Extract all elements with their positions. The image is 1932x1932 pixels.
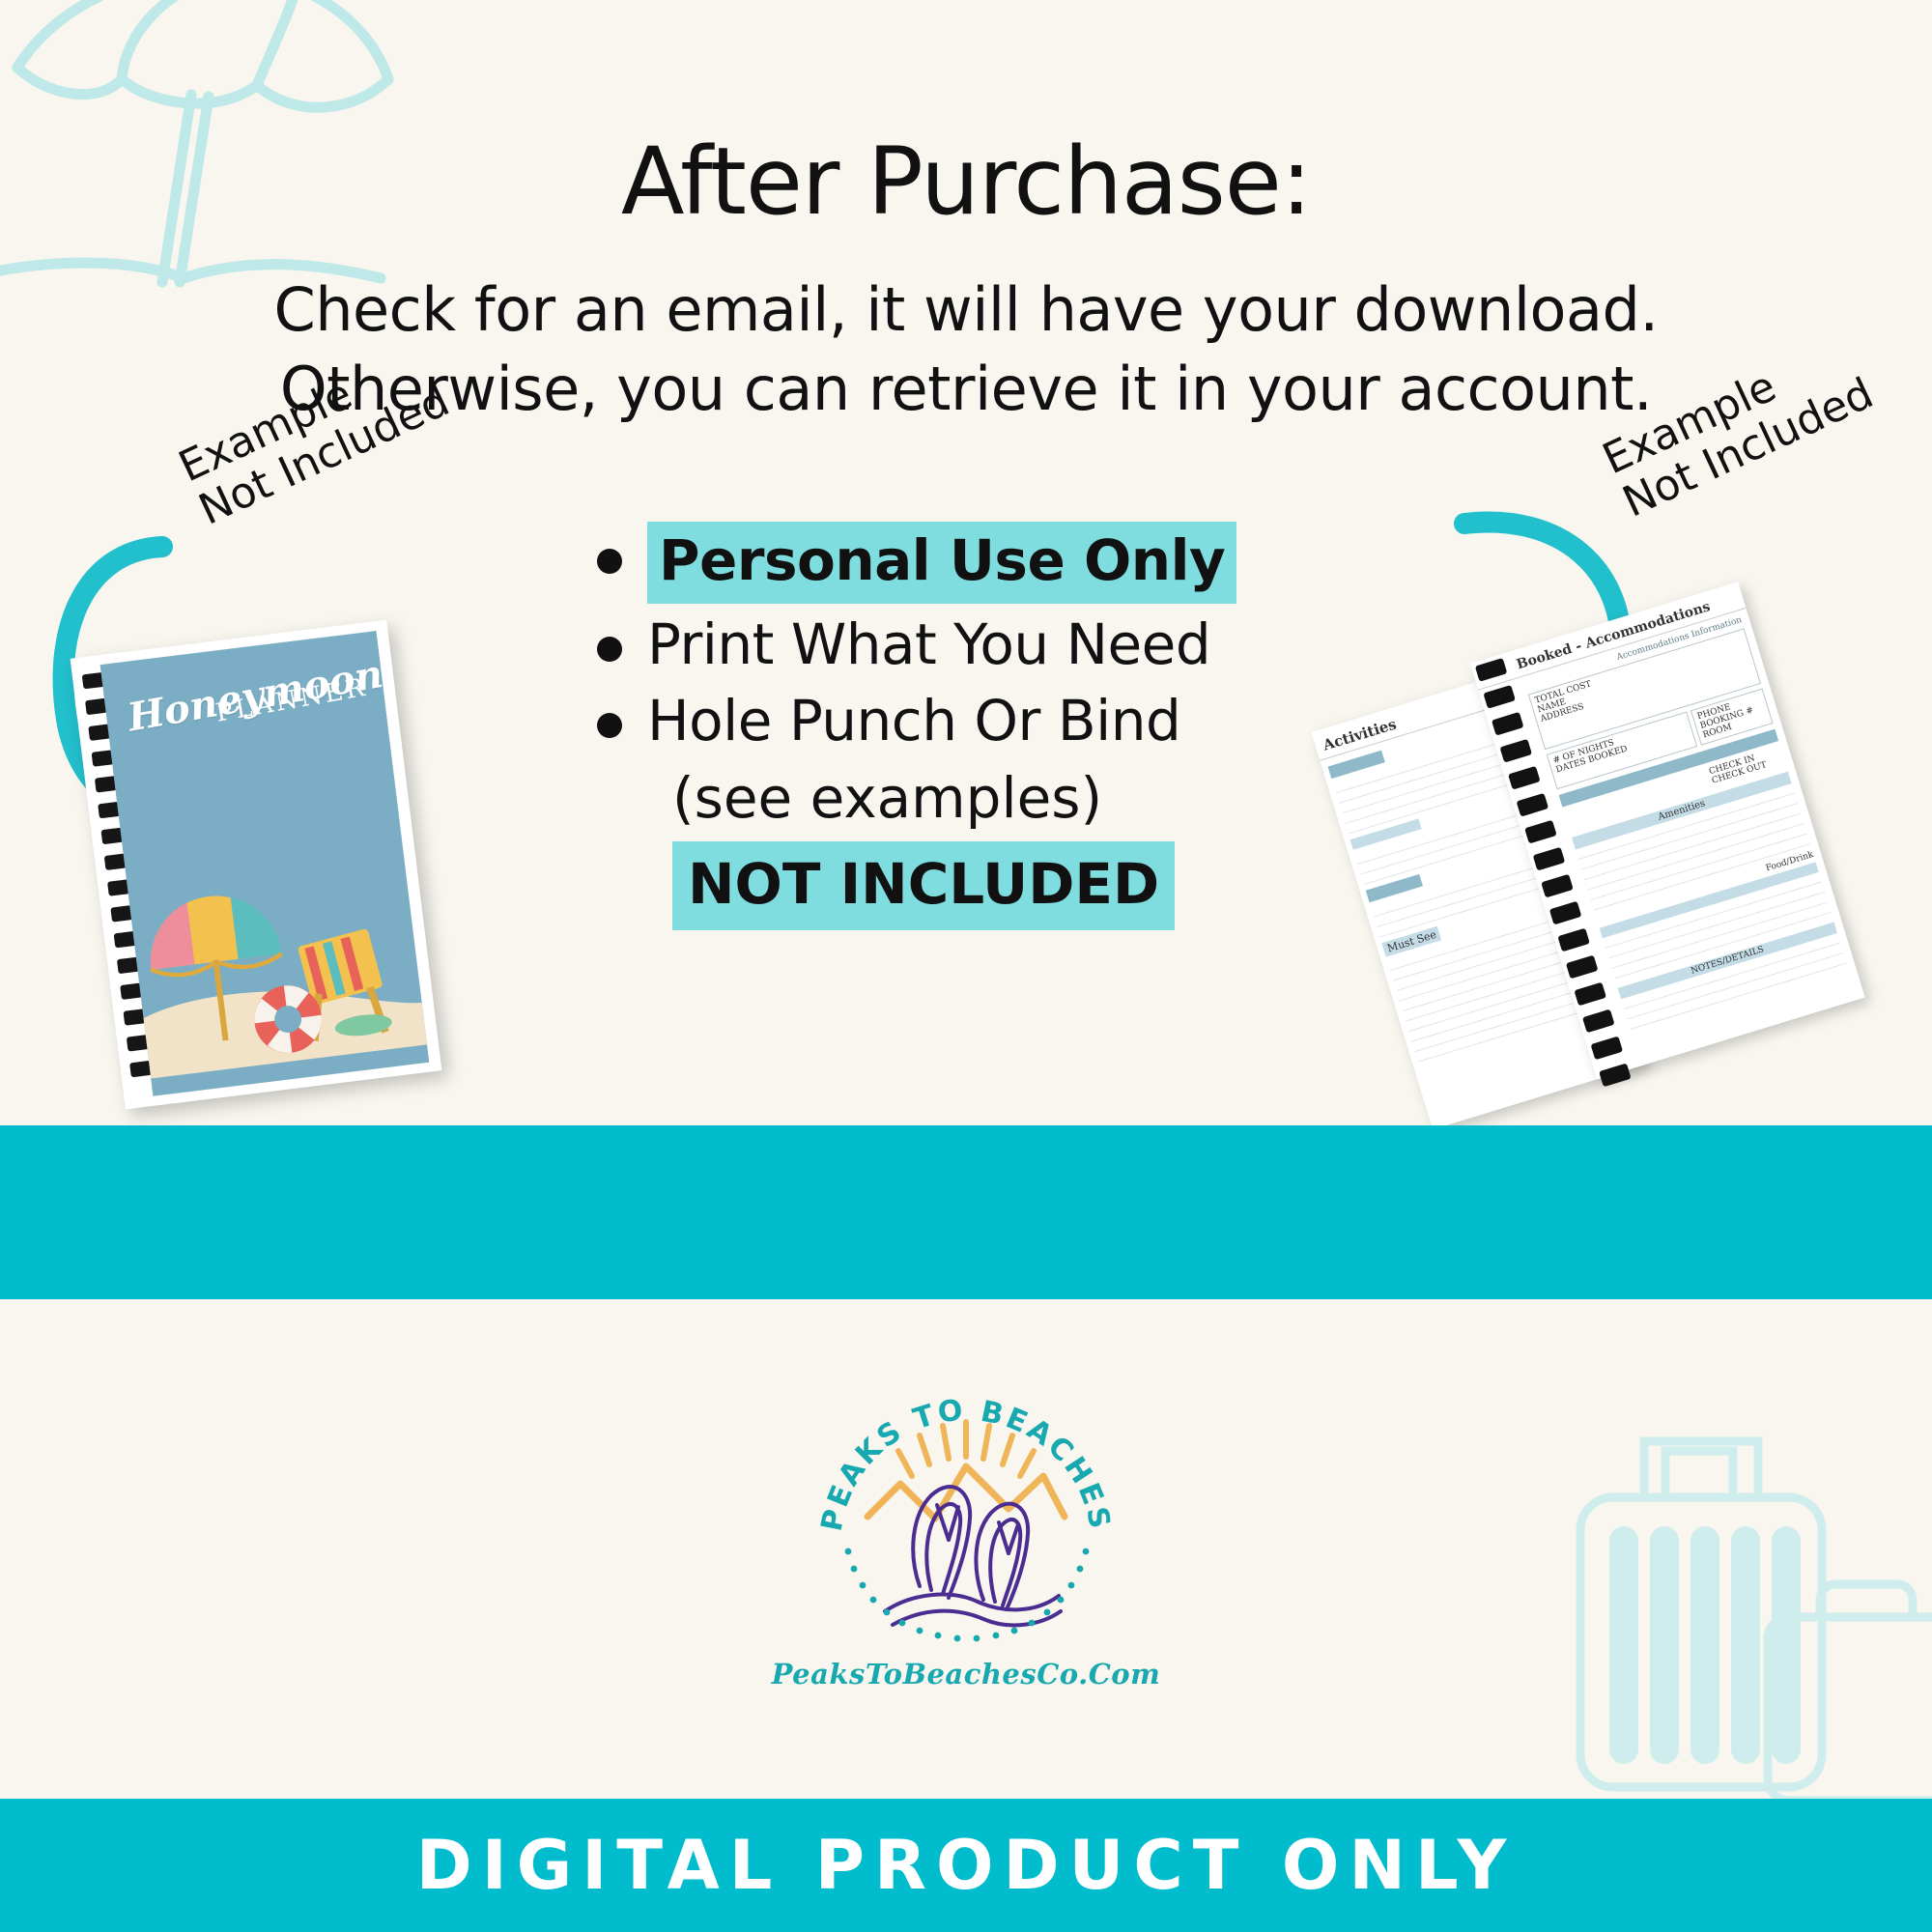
bullet-label-print-what-you-need: Print What You Need	[647, 610, 1210, 680]
bullet-dot-icon	[597, 637, 622, 662]
book-cover: Honeymoon PLANNER	[100, 631, 430, 1096]
digital-product-banner-text: DIGITAL PRODUCT ONLY	[416, 1826, 1517, 1905]
not-included-badge: NOT INCLUDED	[672, 841, 1175, 930]
left-example-group: Example Not Included Ho	[58, 522, 560, 1121]
teal-divider-band	[0, 1125, 1932, 1299]
brand-logo-block: PEAKS TO BEACHES	[763, 1362, 1169, 1690]
bullet-label-hole-punch-or-bind: Hole Punch Or Bind	[647, 686, 1180, 756]
bullet-text-wrapper: Personal Use Only	[647, 522, 1236, 604]
list-item: Personal Use Only	[597, 522, 1273, 604]
list-item: Print What You Need	[597, 610, 1273, 680]
bullet-list: Personal Use Only Print What You Need Ho…	[597, 522, 1273, 930]
bullet-label-personal-use: Personal Use Only	[647, 522, 1236, 604]
suitcase-icon	[1530, 1412, 1932, 1818]
bullet-dot-icon	[597, 713, 622, 738]
list-item: Hole Punch Or Bind	[597, 686, 1273, 756]
header-block: After Purchase: Check for an email, it w…	[0, 135, 1932, 430]
peaks-to-beaches-logo-icon: PEAKS TO BEACHES	[811, 1362, 1121, 1671]
bullet-dot-icon	[597, 549, 622, 574]
beach-illustration	[119, 784, 429, 1096]
honeymoon-planner-book: Honeymoon PLANNER	[71, 620, 442, 1110]
subtitle-line-1: Check for an email, it will have your do…	[0, 270, 1932, 350]
see-examples-note: (see examples)	[672, 762, 1273, 835]
content-row: Example Not Included Ho	[0, 522, 1932, 1121]
page-title: After Purchase:	[0, 135, 1932, 228]
logo-url-text: PeaksToBeachesCo.Com	[763, 1658, 1169, 1690]
right-example-group: Example Not Included Activities	[1333, 522, 1893, 1140]
digital-product-banner: DIGITAL PRODUCT ONLY	[0, 1799, 1932, 1932]
